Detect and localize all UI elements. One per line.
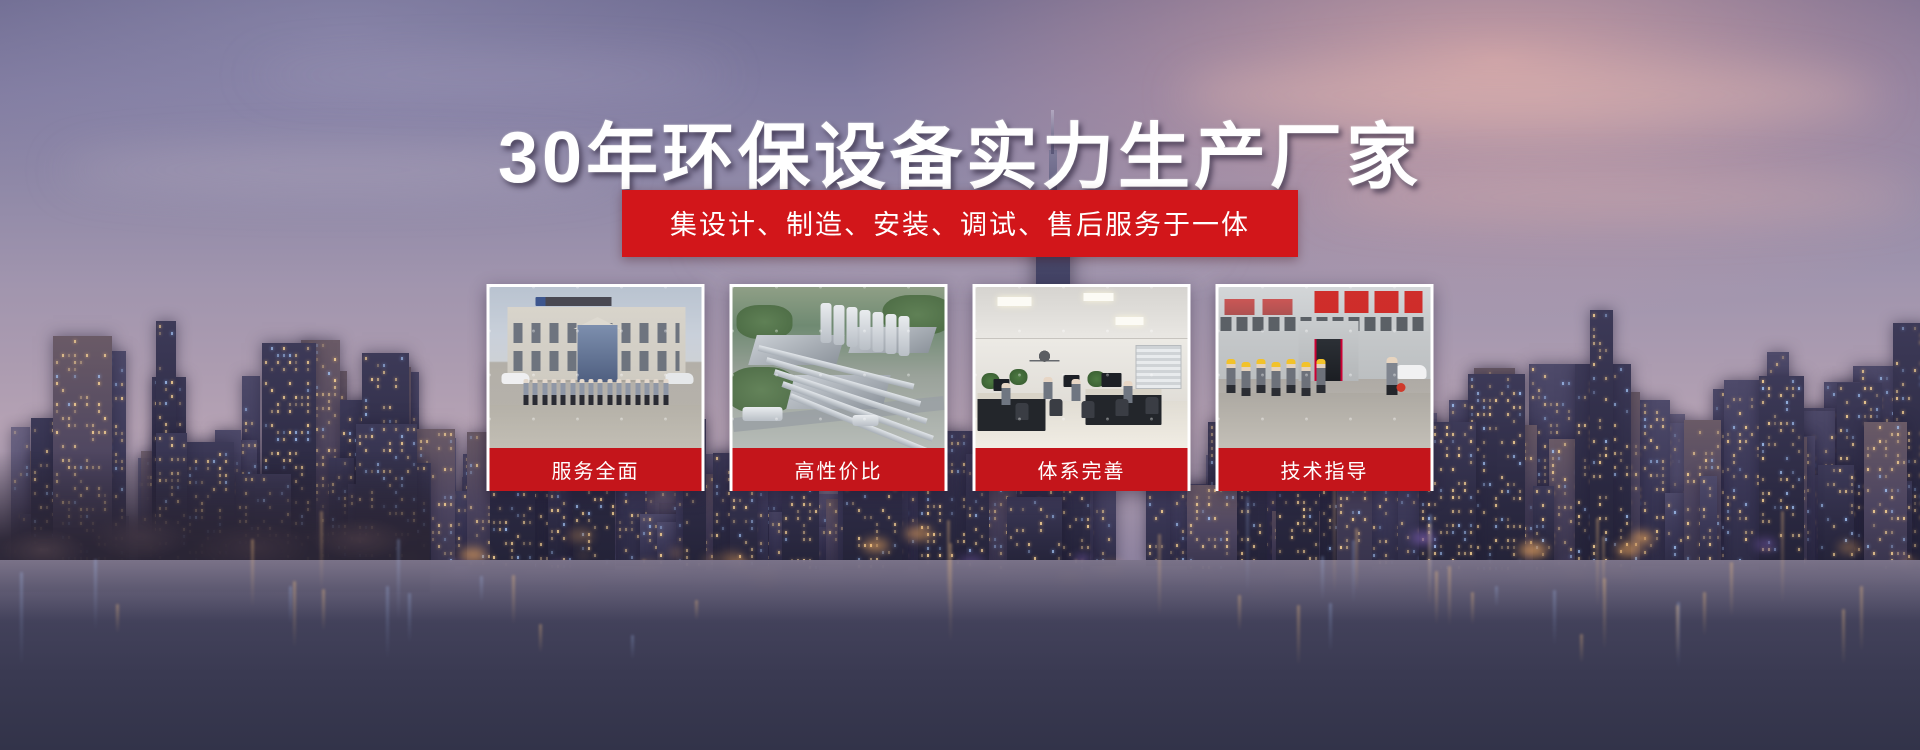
building-window (1626, 522, 1628, 525)
building-window (322, 407, 324, 410)
building-window (476, 534, 478, 537)
building-window (482, 555, 484, 558)
building-window (277, 354, 279, 357)
building-window (1739, 412, 1741, 415)
building-window (1170, 551, 1172, 554)
building-window (334, 386, 336, 389)
building-window (283, 347, 285, 350)
building-window (1570, 520, 1572, 523)
building-window (121, 369, 123, 372)
building-window (1176, 502, 1178, 505)
building-window (722, 527, 724, 530)
building-window (1886, 391, 1888, 394)
building-window (1253, 503, 1255, 506)
building-window (476, 520, 478, 523)
building-window (295, 403, 297, 406)
building-window (1593, 545, 1595, 548)
building-window (1552, 450, 1554, 453)
building-window (1687, 536, 1689, 539)
building-window (797, 510, 799, 513)
building-window (1614, 452, 1616, 455)
building-window (1614, 375, 1616, 378)
building-window (1739, 468, 1741, 471)
building-window (835, 538, 837, 541)
building-window (1880, 377, 1882, 380)
building-window (1182, 537, 1184, 540)
building-window (1373, 547, 1375, 550)
skyline-building (1533, 486, 1554, 570)
building-window (679, 503, 681, 506)
building-window (1556, 424, 1558, 427)
building-window (1182, 551, 1184, 554)
building-window (438, 503, 440, 506)
building-window (68, 403, 70, 406)
building-window (563, 523, 565, 526)
building-window (74, 424, 76, 427)
building-window (1149, 496, 1151, 499)
building-window (1605, 531, 1607, 534)
building-window (1662, 418, 1664, 421)
building-window (1862, 377, 1864, 380)
building-window (56, 375, 58, 378)
building-window (1385, 512, 1387, 515)
building-window (1733, 454, 1735, 457)
building-window (14, 431, 16, 434)
building-window (1558, 485, 1560, 488)
building-window (265, 382, 267, 385)
building-window (1656, 460, 1658, 463)
building-window (563, 537, 565, 540)
building-window (1687, 508, 1689, 511)
building-window (295, 431, 297, 434)
building-window (307, 368, 309, 371)
building-window (1709, 487, 1711, 490)
building-window (1379, 505, 1381, 508)
building-window (1644, 411, 1646, 414)
building-window (1656, 411, 1658, 414)
building-window (307, 410, 309, 413)
building-window (1644, 509, 1646, 512)
building-window (165, 388, 167, 391)
building-window (450, 503, 452, 506)
building-window (1241, 496, 1243, 499)
building-window (159, 416, 161, 419)
building-window (245, 408, 247, 411)
building-window (1081, 518, 1083, 521)
building-window (1733, 461, 1735, 464)
building-window (551, 551, 553, 554)
building-window (1864, 415, 1866, 418)
building-window (1626, 389, 1628, 392)
building-window (679, 524, 681, 527)
building-window (265, 424, 267, 427)
building-window (450, 496, 452, 499)
building-window (1544, 480, 1546, 483)
building-window (432, 531, 434, 534)
building-window (1852, 436, 1854, 439)
building-window (1593, 377, 1595, 380)
building-window (649, 532, 651, 535)
building-window (803, 538, 805, 541)
building-window (1626, 473, 1628, 476)
building-window (1530, 541, 1532, 544)
building-window (1846, 415, 1848, 418)
building-window (637, 514, 639, 517)
building-window (1699, 431, 1701, 434)
building-window (1081, 539, 1083, 542)
building-window (1703, 536, 1705, 539)
building-window (1584, 508, 1586, 511)
building-window (115, 397, 117, 400)
building-window (1876, 408, 1878, 411)
building-window (121, 432, 123, 435)
building-window (316, 344, 318, 347)
building-window (1550, 403, 1552, 406)
building-window (643, 518, 645, 521)
building-window (438, 545, 440, 548)
building-window (98, 403, 100, 406)
building-window (1584, 466, 1586, 469)
building-window (551, 530, 553, 533)
building-window (1544, 403, 1546, 406)
building-window (1902, 411, 1904, 414)
building-window (649, 539, 651, 542)
building-window (1846, 457, 1848, 460)
building-window (1727, 496, 1729, 499)
building-window (1578, 550, 1580, 553)
building-window (1840, 457, 1842, 460)
building-window (92, 424, 94, 427)
building-window (1858, 415, 1860, 418)
building-window (1544, 466, 1546, 469)
building-window (1155, 517, 1157, 520)
building-window (1556, 431, 1558, 434)
building-window (458, 544, 460, 547)
building-window (450, 524, 452, 527)
building-window (341, 396, 343, 399)
building-window (1599, 342, 1601, 345)
building-window (86, 424, 88, 427)
building-window (1538, 459, 1540, 462)
building-window (1538, 431, 1540, 434)
building-window (1858, 548, 1860, 551)
building-window (1709, 536, 1711, 539)
building-window (295, 438, 297, 441)
building-window (551, 537, 553, 540)
building-window (1578, 522, 1580, 525)
building-window (1564, 443, 1566, 446)
building-window (1259, 524, 1261, 527)
building-window (1599, 475, 1601, 478)
building-window (1401, 501, 1403, 504)
building-window (631, 556, 633, 559)
building-window (619, 535, 621, 538)
building-window (1593, 363, 1595, 366)
building-window (1711, 466, 1713, 469)
building-window (301, 431, 303, 434)
building-window (1650, 460, 1652, 463)
building-window (722, 499, 724, 502)
building-window (86, 403, 88, 406)
building-window (74, 375, 76, 378)
building-window (1846, 436, 1848, 439)
building-window (1733, 475, 1735, 478)
building-window (1464, 404, 1466, 407)
building-window (179, 402, 181, 405)
building-window (295, 361, 297, 364)
building-window (1840, 387, 1842, 390)
building-window (74, 354, 76, 357)
building-window (444, 433, 446, 436)
building-window (277, 361, 279, 364)
building-window (809, 538, 811, 541)
building-window (563, 502, 565, 505)
building-window (1908, 439, 1910, 442)
building-window (1605, 377, 1607, 380)
building-window (619, 528, 621, 531)
building-window (301, 403, 303, 406)
building-window (1544, 396, 1546, 399)
building-window (1538, 389, 1540, 392)
building-window (316, 393, 318, 396)
building-window (1840, 429, 1842, 432)
building-window (1745, 538, 1747, 541)
building-window (277, 431, 279, 434)
building-window (557, 530, 559, 533)
building-window (1662, 516, 1664, 519)
building-window (1599, 461, 1601, 464)
building-window (1864, 387, 1866, 390)
building-window (328, 372, 330, 375)
building-window (1599, 419, 1601, 422)
building-window (289, 361, 291, 364)
building-window (835, 524, 837, 527)
building-window (1739, 510, 1741, 513)
building-window (772, 523, 774, 526)
building-window (271, 410, 273, 413)
building-window (803, 531, 805, 534)
building-window (271, 347, 273, 350)
building-window (643, 532, 645, 535)
building-window (432, 517, 434, 520)
building-window (1578, 424, 1580, 427)
building-window (171, 332, 173, 335)
building-window (1452, 411, 1454, 414)
building-window (1161, 545, 1163, 548)
building-window (551, 495, 553, 498)
building-window (1578, 501, 1580, 504)
building-window (1063, 511, 1065, 514)
building-window (245, 429, 247, 432)
building-window (1593, 391, 1595, 394)
building-window (289, 403, 291, 406)
building-window (1570, 506, 1572, 509)
building-window (1705, 466, 1707, 469)
building-window (1831, 436, 1833, 439)
building-window (1858, 492, 1860, 495)
building-window (1605, 314, 1607, 317)
building-window (1544, 445, 1546, 448)
building-window (650, 500, 652, 503)
building-window (62, 354, 64, 357)
building-window (809, 510, 811, 513)
building-window (1662, 488, 1664, 491)
building-window (1674, 448, 1676, 451)
building-window (1751, 531, 1753, 534)
building-window (438, 531, 440, 534)
building-window (1699, 466, 1701, 469)
building-window (1709, 529, 1711, 532)
building-window (1908, 506, 1910, 509)
building-window (803, 503, 805, 506)
building-window (1532, 396, 1534, 399)
building-window (760, 542, 762, 545)
building-window (1914, 509, 1916, 512)
building-window (1102, 552, 1104, 555)
building-window (1413, 501, 1415, 504)
building-window (1914, 488, 1916, 491)
building-window (1644, 467, 1646, 470)
building-window (1870, 408, 1872, 411)
building-window (1644, 502, 1646, 505)
building-window (1605, 440, 1607, 443)
building-window (791, 503, 793, 506)
building-window (1593, 475, 1595, 478)
building-window (171, 381, 173, 384)
building-window (1896, 418, 1898, 421)
building-window (86, 354, 88, 357)
skyline-building (1590, 310, 1614, 570)
building-window (1556, 403, 1558, 406)
building-window (625, 493, 627, 496)
building-window (1693, 480, 1695, 483)
building-window (74, 445, 76, 448)
building-window (1272, 501, 1274, 504)
building-window (322, 428, 324, 431)
building-window (1452, 404, 1454, 407)
building-window (92, 438, 94, 441)
building-window (420, 447, 422, 450)
building-window (248, 444, 250, 447)
building-window (1584, 424, 1586, 427)
building-window (307, 403, 309, 406)
building-window (62, 417, 64, 420)
building-window (476, 436, 478, 439)
building-window (245, 422, 247, 425)
building-window (458, 509, 460, 512)
building-window (1552, 478, 1554, 481)
building-window (98, 410, 100, 413)
building-window (1751, 433, 1753, 436)
building-window (349, 432, 351, 435)
building-window (631, 521, 633, 524)
building-window (1908, 474, 1910, 477)
building-window (1081, 497, 1083, 500)
building-window (540, 543, 542, 546)
building-window (1908, 432, 1910, 435)
building-window (631, 514, 633, 517)
building-window (1674, 546, 1676, 549)
building-window (1650, 474, 1652, 477)
building-window (1733, 496, 1735, 499)
building-window (785, 538, 787, 541)
building-window (1717, 522, 1719, 525)
building-window (1570, 555, 1572, 558)
building-window (809, 517, 811, 520)
building-window (1385, 540, 1387, 543)
building-window (912, 498, 914, 501)
building-window (470, 471, 472, 474)
building-window (1102, 517, 1104, 520)
building-window (277, 403, 279, 406)
building-window (912, 519, 914, 522)
building-window (1176, 544, 1178, 547)
building-window (1379, 540, 1381, 543)
building-window (1626, 445, 1628, 448)
building-window (829, 531, 831, 534)
building-window (1635, 473, 1637, 476)
building-window (316, 407, 318, 410)
building-window (1373, 554, 1375, 557)
building-window (316, 428, 318, 431)
building-window (803, 524, 805, 527)
building-window (1241, 552, 1243, 555)
building-window (1717, 445, 1719, 448)
building-window (1182, 530, 1184, 533)
building-window (328, 421, 330, 424)
building-window (295, 368, 297, 371)
building-window (1770, 370, 1772, 373)
building-window (540, 515, 542, 518)
building-window (1908, 446, 1910, 449)
building-window (1776, 363, 1778, 366)
building-window (1407, 536, 1409, 539)
building-window (1568, 382, 1570, 385)
building-window (92, 431, 94, 434)
building-window (1902, 369, 1904, 372)
building-window (1087, 504, 1089, 507)
building-window (1656, 474, 1658, 477)
building-window (1075, 518, 1077, 521)
building-window (476, 464, 478, 467)
building-window (1739, 440, 1741, 443)
building-window (1562, 403, 1564, 406)
building-window (1864, 401, 1866, 404)
building-window (1599, 517, 1601, 520)
building-window (328, 393, 330, 396)
building-window (660, 533, 662, 536)
building-window (1584, 459, 1586, 462)
building-window (271, 424, 273, 427)
building-window (1709, 494, 1711, 497)
building-window (438, 447, 440, 450)
building-window (1745, 426, 1747, 429)
building-window (1542, 504, 1544, 507)
building-window (179, 388, 181, 391)
building-window (328, 400, 330, 403)
building-window (432, 538, 434, 541)
building-window (56, 382, 58, 385)
building-window (1644, 432, 1646, 435)
building-window (1564, 506, 1566, 509)
building-window (1858, 394, 1860, 397)
building-window (1703, 480, 1705, 483)
building-window (1620, 529, 1622, 532)
building-window (1739, 433, 1741, 436)
building-window (295, 354, 297, 357)
building-window (438, 433, 440, 436)
building-window (778, 530, 780, 533)
